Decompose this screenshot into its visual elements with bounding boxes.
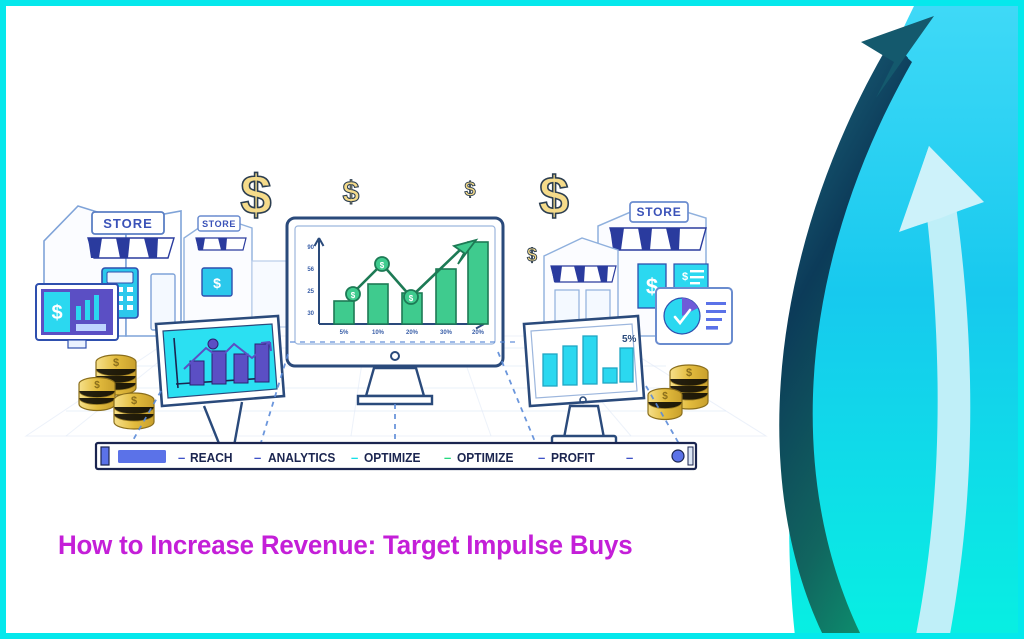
step-label-2: OPTIMIZE (364, 451, 420, 466)
left-tablet-chart (156, 316, 284, 455)
step-dash-5: – (626, 450, 633, 465)
growth-arrows-panel (766, 6, 1018, 633)
svg-text:$: $ (343, 176, 360, 209)
dollar-sign-large-left: $ (240, 163, 271, 226)
awning-left (88, 238, 174, 258)
revenue-growth-illustration: STORE (6, 6, 786, 506)
funnel-progress-bar[interactable]: – REACH – ANALYTICS – OPTIMIZE – OPTIMIZ… (96, 443, 696, 469)
step-dash-0: – (178, 450, 185, 465)
svg-text:$: $ (464, 179, 475, 201)
step-label-3: OPTIMIZE (457, 451, 513, 466)
screenshot-root: STORE (0, 0, 1024, 639)
svg-text:$: $ (527, 245, 537, 265)
svg-text:30%: 30% (440, 330, 453, 336)
dollar-sign-small-left: $ (343, 176, 360, 209)
main-monitor-chart: 90 56 25 30 5% 10% (287, 218, 503, 404)
svg-text:30: 30 (307, 311, 314, 317)
svg-text:STORE: STORE (202, 219, 236, 229)
dollar-sign-tiny-right: $ (527, 245, 537, 265)
pie-chart-widget (656, 288, 732, 344)
svg-text:$: $ (351, 291, 356, 300)
svg-text:25: 25 (307, 289, 314, 295)
white-content-card: STORE (6, 6, 1018, 633)
svg-text:20%: 20% (406, 330, 419, 336)
svg-text:$: $ (94, 380, 100, 391)
step-dash-1: – (254, 450, 261, 465)
store-small-left: STORE $ (184, 216, 288, 327)
svg-text:20%: 20% (472, 330, 485, 336)
svg-text:5%: 5% (340, 330, 349, 336)
svg-text:90: 90 (307, 245, 314, 251)
svg-text:$: $ (240, 163, 271, 226)
svg-text:$: $ (686, 367, 692, 379)
svg-text:10%: 10% (372, 330, 385, 336)
svg-text:$: $ (51, 302, 62, 324)
left-dollar-monitor: $ (36, 284, 118, 348)
svg-text:$: $ (539, 166, 569, 226)
step-label-0: REACH (190, 451, 233, 466)
svg-text:$: $ (213, 275, 221, 291)
svg-text:$: $ (409, 294, 414, 303)
step-dash-2: – (351, 450, 358, 465)
svg-text:$: $ (682, 271, 688, 283)
svg-text:56: 56 (307, 267, 314, 273)
step-dash-3: – (444, 450, 451, 465)
right-monitor-chart: 5% (524, 316, 644, 447)
svg-text:STORE: STORE (636, 205, 681, 219)
step-label-1: ANALYTICS (268, 451, 335, 466)
step-label-4: PROFIT (551, 451, 595, 466)
svg-text:STORE: STORE (103, 216, 153, 231)
svg-text:$: $ (113, 357, 119, 369)
step-dash-4: – (538, 450, 545, 465)
right-monitor-badge: 5% (622, 334, 637, 345)
svg-text:$: $ (131, 395, 137, 407)
svg-text:$: $ (380, 261, 385, 270)
svg-text:$: $ (662, 391, 668, 402)
page-title: How to Increase Revenue: Target Impulse … (58, 530, 632, 561)
dollar-sign-tiny-mid: $ (464, 179, 475, 201)
dollar-sign-large-right: $ (539, 166, 569, 226)
